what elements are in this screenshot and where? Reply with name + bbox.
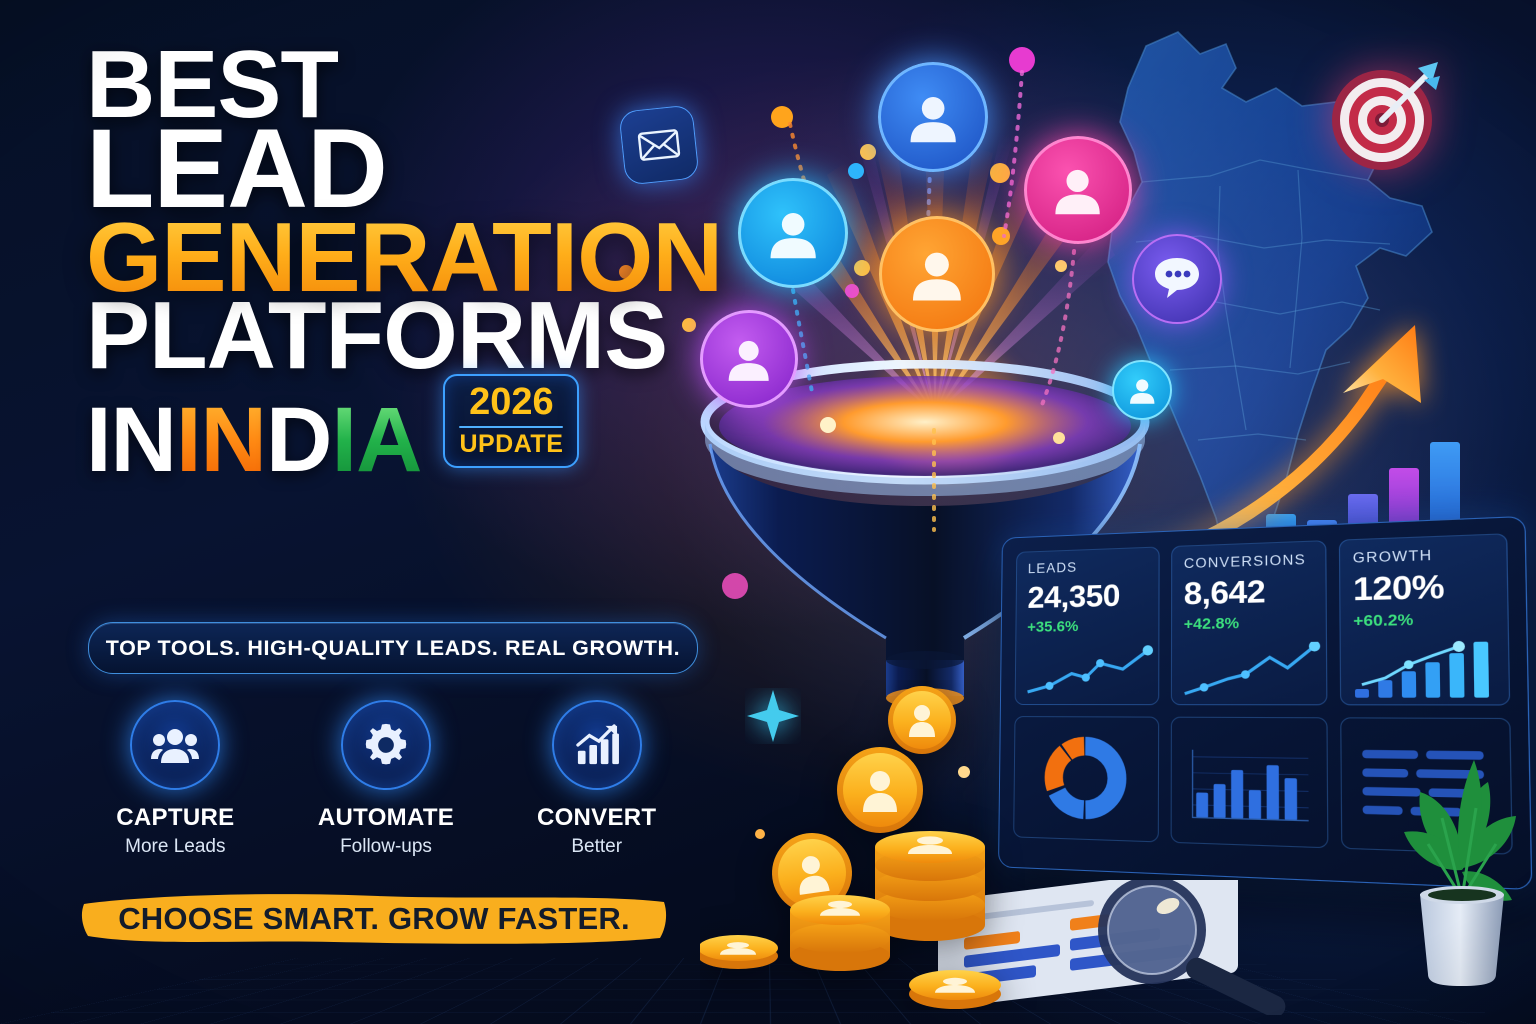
india-part-in: IN bbox=[86, 401, 176, 480]
stat-delta: +42.8% bbox=[1184, 613, 1314, 633]
bar-chart-widget[interactable] bbox=[1171, 717, 1329, 849]
stat-delta: +60.2% bbox=[1353, 609, 1494, 630]
stat-label: CONVERSIONS bbox=[1184, 551, 1313, 571]
subtitle-bar: TOP TOOLS. HIGH-QUALITY LEADS. REAL GROW… bbox=[88, 622, 698, 674]
stat-value: 24,350 bbox=[1027, 577, 1147, 616]
sparkline-bar-chart bbox=[1350, 639, 1506, 698]
chat-bubble-icon bbox=[1132, 234, 1222, 324]
feature-convert[interactable]: CONVERT Better bbox=[517, 700, 676, 858]
avatar-bubble-orange bbox=[879, 216, 995, 332]
india-part-d: D bbox=[266, 401, 331, 480]
india-part-saffron: IN bbox=[176, 401, 266, 480]
feature-title: AUTOMATE bbox=[318, 804, 454, 832]
feature-subtitle: Follow-ups bbox=[340, 836, 432, 858]
stat-value: 120% bbox=[1353, 566, 1494, 609]
feature-list: CAPTURE More Leads AUTOMATE Follow-ups bbox=[96, 700, 676, 858]
stat-label: LEADS bbox=[1028, 557, 1147, 576]
year-update-badge: 2026 UPDATE bbox=[443, 374, 579, 468]
feature-automate[interactable]: AUTOMATE Follow-ups bbox=[307, 700, 466, 858]
avatar-bubble-blue bbox=[878, 62, 988, 172]
feature-subtitle: Better bbox=[571, 836, 622, 858]
stat-card-conversions[interactable]: CONVERSIONS 8,642 +42.8% bbox=[1171, 540, 1328, 705]
badge-year: 2026 bbox=[469, 383, 554, 421]
feature-title: CAPTURE bbox=[116, 804, 234, 832]
headline-line-3: GENERATION bbox=[86, 215, 726, 299]
people-icon bbox=[130, 700, 220, 790]
donut-chart bbox=[1025, 726, 1146, 831]
stat-card-row: LEADS 24,350 +35.6% CONVERSIONS 8,642 +4… bbox=[1015, 533, 1511, 705]
cta-banner[interactable]: CHOOSE SMART. GROW FASTER. bbox=[78, 888, 670, 950]
feature-subtitle: More Leads bbox=[125, 836, 225, 858]
bar-chart-growth-icon bbox=[552, 700, 642, 790]
magnifying-glass-icon bbox=[1098, 880, 1289, 1015]
cta-text: CHOOSE SMART. GROW FASTER. bbox=[78, 888, 670, 950]
headline-block: BEST LEAD GENERATION PLATFORMS IN INDIA … bbox=[86, 44, 726, 480]
gear-icon bbox=[341, 700, 431, 790]
headline-line-5: IN INDIA 2026 UPDATE bbox=[86, 374, 726, 480]
stat-delta: +35.6% bbox=[1027, 616, 1147, 635]
target-bullseye-icon bbox=[1326, 58, 1444, 176]
badge-divider bbox=[459, 426, 563, 428]
stat-card-growth[interactable]: GROWTH 120% +60.2% bbox=[1339, 533, 1510, 705]
feature-title: CONVERT bbox=[537, 804, 656, 832]
badge-label: UPDATE bbox=[459, 432, 563, 457]
sparkline-chart bbox=[1180, 642, 1324, 698]
avatar-bubble-pink bbox=[1024, 136, 1132, 244]
feature-capture[interactable]: CAPTURE More Leads bbox=[96, 700, 255, 858]
poster-canvas: LEADS 24,350 +35.6% CONVERSIONS 8,642 +4… bbox=[0, 0, 1536, 1024]
avatar-bubble-cyan bbox=[738, 178, 848, 288]
bar-chart bbox=[1183, 727, 1314, 837]
sparkline-chart bbox=[1024, 644, 1157, 698]
stat-value: 8,642 bbox=[1184, 571, 1313, 612]
subtitle-text: TOP TOOLS. HIGH-QUALITY LEADS. REAL GROW… bbox=[106, 636, 680, 661]
potted-plant-icon bbox=[1392, 748, 1532, 988]
india-part-ia: IA bbox=[331, 401, 421, 480]
avatar-bubble-small bbox=[1112, 360, 1172, 420]
stat-label: GROWTH bbox=[1353, 545, 1493, 566]
sparkle-icon bbox=[745, 688, 801, 744]
